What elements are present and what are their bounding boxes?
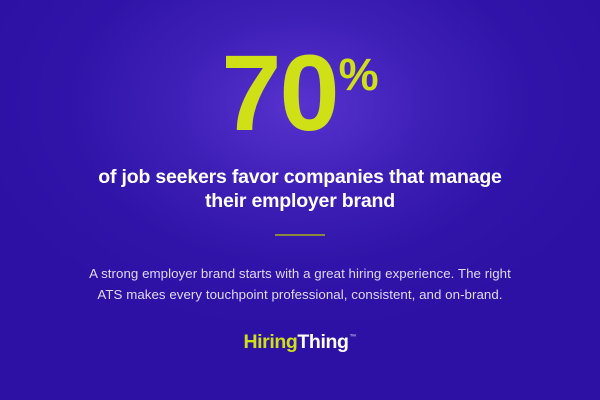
logo-word-thing: Thing [297,333,348,353]
trademark-symbol: ™ [350,334,357,341]
stat-number: 70 [221,42,337,145]
stat-card: 70 % of job seekers favor companies that… [0,0,600,400]
divider-rule [275,234,325,236]
card-content: 70 % of job seekers favor companies that… [0,0,600,353]
body-line-2: ATS makes every touchpoint professional,… [61,285,539,306]
headline-line-1: of job seekers favor companies that mana… [65,165,535,189]
logo-word-hiring: Hiring [243,333,297,353]
body-line-1: A strong employer brand starts with a gr… [61,264,539,285]
stat-percent-symbol: % [339,52,379,97]
headline: of job seekers favor companies that mana… [65,165,535,213]
headline-line-2: their employer brand [65,189,535,213]
hiringthing-logo: Hiring Thing ™ [243,333,356,353]
body-copy: A strong employer brand starts with a gr… [61,264,539,305]
stat-figure: 70 % [221,42,378,145]
